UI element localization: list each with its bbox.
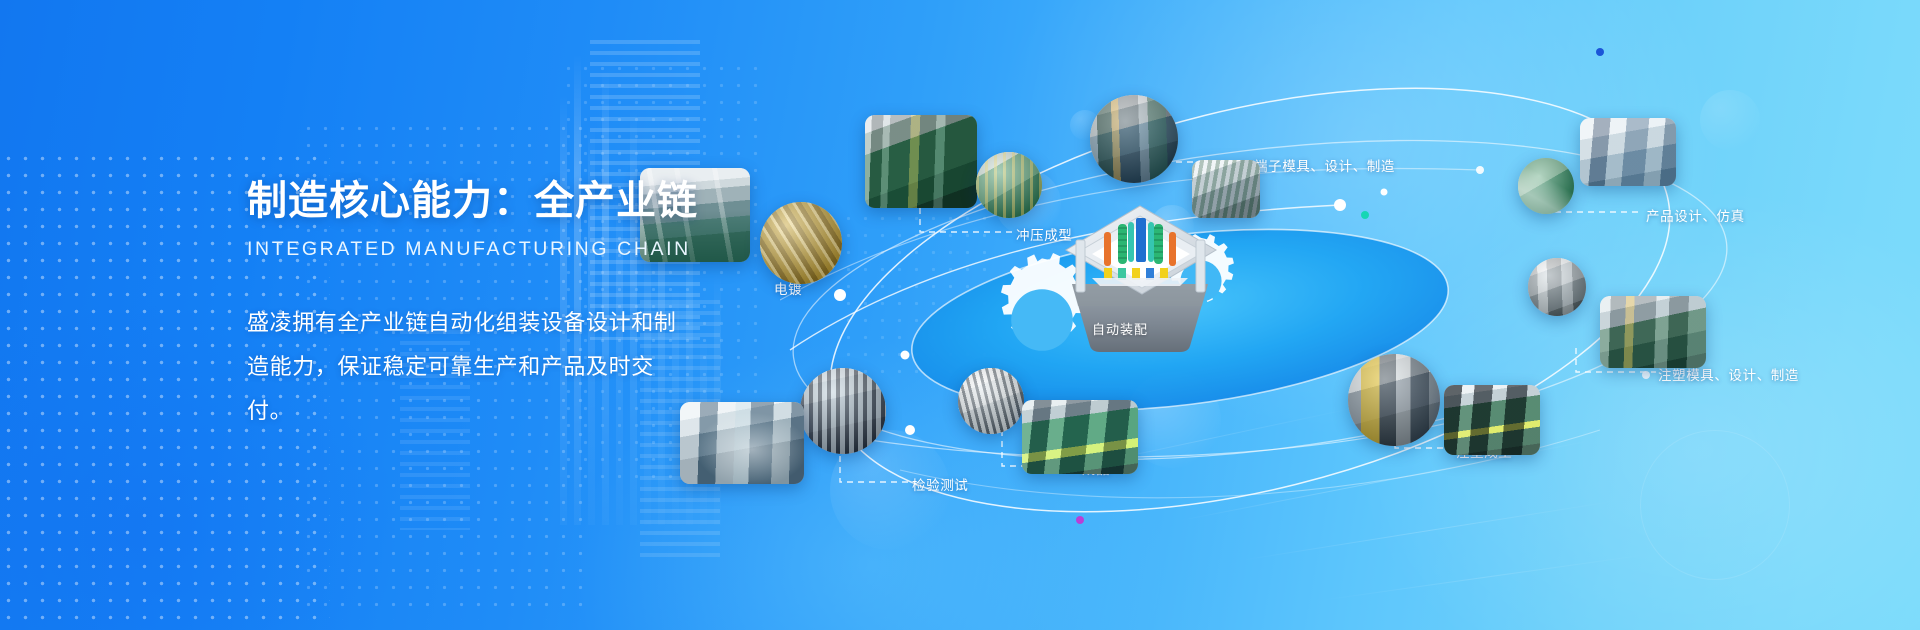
hub-label: 自动装配: [1092, 319, 1148, 338]
page-subtitle: INTEGRATED MANUFACTURING CHAIN: [247, 238, 717, 261]
thumbnail-injection-molding-machine: [1348, 354, 1440, 446]
thumbnail-injection-mold-shop: [1600, 296, 1706, 368]
orbit-lines: [780, 0, 1920, 630]
thumbnail-product-design-cad: [1518, 158, 1574, 214]
thumbnail-molding-production: [1444, 385, 1540, 455]
thumbnail-finished-connector: [958, 368, 1024, 434]
banner-root: 制造核心能力：全产业链 INTEGRATED MANUFACTURING CHA…: [0, 0, 1920, 630]
thumbnail-plated-terminal: [760, 202, 842, 284]
thumbnail-stamped-part: [976, 152, 1042, 218]
thumbnail-injection-mold-part: [1528, 258, 1586, 316]
thumbnail-design-engineer: [1580, 118, 1676, 186]
page-title: 制造核心能力：全产业链: [247, 178, 717, 225]
caption-stamping: 冲压成型: [1016, 224, 1072, 244]
caption-terminal-mold: 端子模具、设计、制造: [1254, 155, 1395, 175]
headline-block: 制造核心能力：全产业链 INTEGRATED MANUFACTURING CHA…: [247, 178, 717, 433]
thumbnail-mold-tooling: [1192, 160, 1260, 218]
caption-product-design: 产品设计、仿真: [1646, 205, 1745, 225]
thumbnail-terminal-mold-shop: [1090, 95, 1178, 183]
manufacturing-chain-diagram: 自动装配 电镀 冲压成型 端子模: [780, 0, 1920, 630]
caption-inspection-test: 检验测试: [912, 474, 968, 494]
thumbnail-stamping-machine: [865, 115, 977, 208]
thumbnail-inspection-fixture: [800, 368, 886, 454]
thumbnail-assembly-line: [1022, 400, 1138, 474]
body-paragraph: 盛凌拥有全产业链自动化组装设备设计和制造能力，保证稳定可靠生产和产品及时交付。: [247, 301, 689, 433]
